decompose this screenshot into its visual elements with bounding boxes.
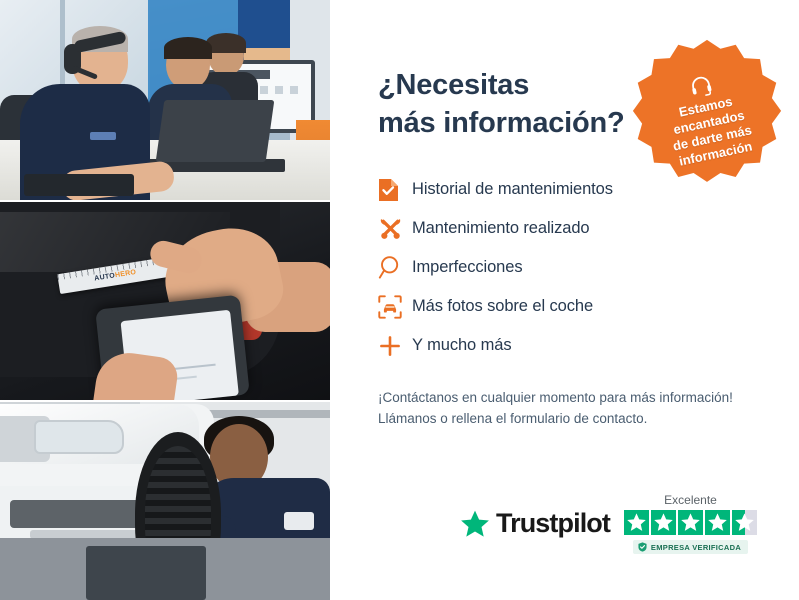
photo-column: AUTOHERO	[0, 0, 330, 600]
star-5-half	[732, 510, 757, 535]
contact-line-1: ¡Contáctanos en cualquier momento para m…	[378, 387, 798, 409]
verified-business-badge: EMPRESA VERIFICADA	[633, 540, 748, 554]
photo-call-center	[0, 0, 330, 200]
tools-icon	[378, 216, 412, 241]
magnifier-icon	[378, 255, 412, 280]
trustpilot-brand: Trustpilot	[460, 508, 610, 539]
promo-card: AUTOHERO ¿Necesitas más información?	[0, 0, 799, 600]
contact-line-2: Llámanos o rellena el formulario de cont…	[378, 408, 798, 430]
trustpilot-rating-label: Excelente	[664, 493, 717, 507]
feature-list: Historial de mantenimientos M	[378, 171, 799, 365]
feature-label: Y mucho más	[412, 336, 511, 355]
info-badge: Estamos encantados de darte más informac…	[629, 36, 785, 192]
star-4	[705, 510, 730, 535]
car-scan-icon	[378, 295, 412, 319]
feature-item-maintenance-done: Mantenimiento realizado	[378, 210, 799, 248]
feature-item-more-photos: Más fotos sobre el coche	[378, 288, 799, 326]
feature-label: Historial de mantenimientos	[412, 180, 613, 199]
photo-body-inspection: AUTOHERO	[0, 200, 330, 400]
trustpilot-widget[interactable]: Trustpilot Excelente	[460, 493, 757, 554]
document-check-icon	[378, 178, 412, 202]
trustpilot-wordmark: Trustpilot	[496, 508, 610, 539]
trustpilot-rating: Excelente	[624, 493, 757, 554]
feature-item-imperfections: Imperfecciones	[378, 249, 799, 287]
verified-label: EMPRESA VERIFICADA	[651, 543, 741, 552]
trustpilot-stars	[624, 510, 757, 535]
feature-label: Más fotos sobre el coche	[412, 297, 593, 316]
feature-item-much-more: Y mucho más	[378, 327, 799, 365]
shield-check-icon	[638, 542, 647, 552]
photo-workshop-tire	[0, 400, 330, 600]
content-panel: ¿Necesitas más información? Estamos enca…	[330, 0, 799, 600]
star-3	[678, 510, 703, 535]
headset-icon	[687, 72, 715, 100]
feature-label: Mantenimiento realizado	[412, 219, 589, 238]
star-2	[651, 510, 676, 535]
feature-label: Imperfecciones	[412, 258, 522, 277]
star-1	[624, 510, 649, 535]
contact-text: ¡Contáctanos en cualquier momento para m…	[378, 387, 798, 431]
plus-icon	[378, 334, 412, 358]
trustpilot-star-icon	[460, 509, 490, 539]
